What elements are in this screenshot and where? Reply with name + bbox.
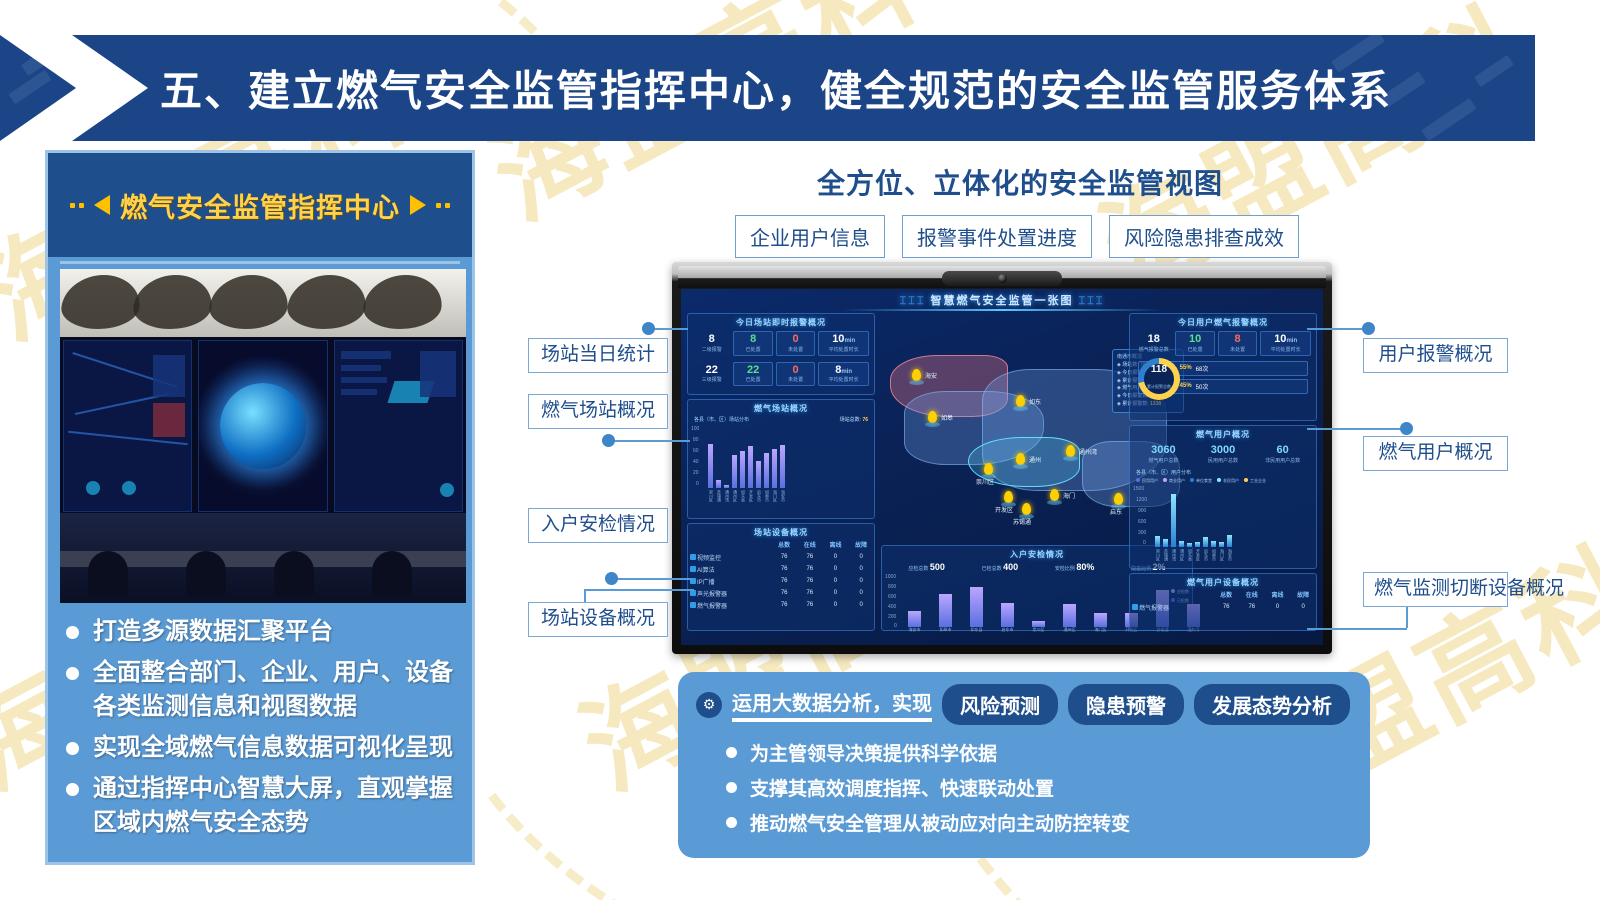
tag-risk-inspection[interactable]: 风险隐患排查成效: [1109, 215, 1299, 258]
callout-user-alarm[interactable]: 用户报警概况: [1363, 338, 1508, 373]
callout-node: [1400, 422, 1413, 435]
kpi-alarm-avg: 8min 平均处置时长: [818, 362, 869, 387]
callout-node: [605, 572, 618, 585]
kpi-inspected: 已检总数 400: [982, 562, 1018, 572]
list-item-text: 为主管领导决策提供科学依据: [750, 739, 997, 766]
panel-title: 场站设备概况: [688, 524, 874, 538]
legend-item: 商业用户: [1163, 478, 1185, 484]
left-card-bullet-list: 打造多源数据汇聚平台 全面整合部门、企业、用户、设备各类监测信息和视图数据 实现…: [66, 615, 458, 847]
x-tick: 如东县: [970, 628, 983, 632]
callout-station-daily-stats[interactable]: 场站当日统计: [528, 338, 668, 373]
station-device-table: 总数 在线 离线 故障 视频监控 76 76 0 0 AI算法 76: [688, 538, 874, 611]
callout-user-overview[interactable]: 燃气用户概况: [1363, 436, 1508, 471]
dashboard-screen: ⌶⌶⌶ 智慧燃气安全监管一张图 ⌶⌶⌶ 今日场站即时报警概况 8 二级报警 8 …: [681, 289, 1323, 645]
callout-line: [1307, 628, 1407, 630]
table-row: 燃气报警器 76 76 0 0: [688, 599, 874, 611]
ceiling-panel: [60, 269, 466, 337]
table-row: 燃气报警器 76 76 0 0: [1130, 601, 1316, 613]
panel-title: 今日场站即时报警概况: [688, 314, 874, 328]
x-tick: 通州湾: [1171, 549, 1176, 561]
x-tick: 海门区: [772, 490, 777, 502]
user-device-table: 总数 在线 离线 故障 燃气报警器 76 76 0 0: [1130, 588, 1316, 613]
triangle-right-icon: [410, 195, 426, 215]
callout-line: [1307, 428, 1407, 430]
kpi-alarm-avg: 10min 平均处置时长: [818, 331, 869, 356]
legend-item: 非民用户: [1217, 478, 1239, 484]
x-tick: 通州区: [1063, 628, 1076, 632]
kpi-residential-users: 3000 民用用户总数: [1195, 443, 1252, 466]
list-item: 实现全域燃气信息数据可视化呈现: [66, 731, 458, 765]
tag-alarm-progress[interactable]: 报警事件处置进度: [902, 215, 1092, 258]
x-tick: 海安市: [780, 490, 785, 502]
kpi-gas-users: 3060 燃气用户总数: [1135, 443, 1192, 466]
table-header-row: 总数 在线 离线 故障: [688, 538, 874, 551]
kpi-alarm-done: 22 已处置: [733, 362, 772, 387]
x-tick: 如皋市: [939, 628, 952, 632]
x-tick: 如东县: [1187, 549, 1192, 561]
kpi-user-alarm-total: 18 燃气报警总数: [1135, 332, 1172, 355]
control-room-photo: [60, 269, 466, 603]
x-tick: 通州区: [1179, 549, 1184, 561]
dashboard-title-text: 智慧燃气安全监管一张图: [931, 295, 1074, 307]
panel-station-device: 场站设备概况 总数 在线 离线 故障 视频监控 76 76 0 0: [687, 523, 875, 631]
bottom-header: ⚙ 运用大数据分析，实现 风险预测 隐患预警 发展态势分析: [696, 684, 1352, 725]
dashboard-title: ⌶⌶⌶ 智慧燃气安全监管一张图 ⌶⌶⌶: [681, 292, 1323, 308]
table-row: 22 三级报警 22 已处置 0 未处置 8min 平均处置时长: [688, 359, 874, 390]
kpi-alarm-total: 8 二级报警: [693, 332, 730, 355]
legend-item: 民用用户: [1136, 478, 1158, 484]
callout-node: [1362, 322, 1375, 335]
bullet-icon: [726, 747, 737, 758]
left-card-title: 燃气安全监管指挥中心: [120, 186, 400, 225]
list-item-text: 打造多源数据汇聚平台: [93, 615, 333, 649]
callout-home-inspection[interactable]: 入户安检情况: [528, 508, 668, 543]
bottom-bullet-list: 为主管领导决策提供科学依据 支撑其高效调度指挥、快速联动处置 推动燃气安全管理从…: [696, 739, 1352, 836]
station-total: 场站总数: 76: [840, 416, 868, 423]
list-item: 为主管领导决策提供科学依据: [726, 739, 1352, 766]
bullet-icon: [726, 817, 737, 828]
decor-dots-right: [436, 203, 450, 208]
x-tick: 开发区: [748, 490, 753, 502]
map-pin[interactable]: 开发区: [1004, 491, 1013, 503]
x-tick: 海门区: [1219, 549, 1224, 561]
panel-station-alarm: 今日场站即时报警概况 8 二级报警 8 已处置 0 未处置: [687, 313, 875, 395]
kpi-alarm-undone: 0 未处置: [776, 362, 815, 387]
tag-row: 企业用户信息 报警事件处置进度 风险隐患排查成效: [735, 215, 1299, 258]
bullet-icon: [66, 783, 79, 796]
map-pin[interactable]: 启东: [1114, 493, 1123, 505]
table-row: IP广播 76 76 0 0: [688, 575, 874, 587]
map-pin[interactable]: 如皋: [928, 411, 937, 423]
bottom-analysis-panel: ⚙ 运用大数据分析，实现 风险预测 隐患预警 发展态势分析 为主管领导决策提供科…: [678, 672, 1370, 858]
list-item: 通过指挥中心智慧大屏，直观掌握区域内燃气安全态势: [66, 772, 458, 840]
map-pin[interactable]: 海门: [1050, 489, 1059, 501]
x-tick: 启东市: [756, 490, 761, 502]
map-pin[interactable]: 海安: [912, 369, 921, 381]
kpi-alarm-done: 8 已处置: [733, 331, 772, 356]
list-item: 打造多源数据汇聚平台: [66, 615, 458, 649]
panel-station-overview: 燃气场站概况 各县（市、区）场站分布 场站总数: 76 100 80 60 40…: [687, 399, 875, 519]
kpi-inspect-rate: 安检比例 80%: [1055, 562, 1094, 572]
list-item: 全面整合部门、企业、用户、设备各类监测信息和视图数据: [66, 656, 458, 724]
callout-cutoff-device[interactable]: 燃气监测切断设备概况: [1363, 572, 1508, 607]
list-item: 支撑其高效调度指挥、快速联动处置: [726, 774, 1352, 801]
chip-icon: ⚙: [696, 692, 722, 718]
callout-line: [652, 328, 688, 330]
panel-title: 燃气场站概况: [688, 400, 874, 414]
callout-station-overview[interactable]: 燃气场站概况: [528, 394, 668, 429]
panel-title: 燃气用户设备概况: [1130, 574, 1316, 588]
kpi-user-alarm-avg: 10min 平均处置时长: [1260, 331, 1311, 356]
divider: [60, 261, 460, 264]
pill-trend-analysis[interactable]: 发展态势分析: [1194, 684, 1350, 725]
left-info-card: 燃气安全监管指挥中心: [45, 150, 475, 865]
callout-line: [584, 589, 694, 591]
map-pin[interactable]: 通州湾: [1066, 445, 1075, 457]
x-tick: 通州区: [732, 490, 737, 502]
decor-dots-left: [70, 203, 84, 208]
x-tick: 如皋市: [1211, 549, 1216, 561]
left-card-header: 燃气安全监管指挥中心: [48, 153, 472, 257]
bottom-lead-text: 运用大数据分析，实现: [732, 687, 932, 722]
x-tick: 如东县: [740, 490, 745, 502]
panel-title: 今日用户燃气报警概况: [1130, 314, 1316, 328]
monitor-bezel-top: [678, 266, 1326, 288]
map-pin[interactable]: 崇川区: [984, 463, 993, 475]
legend-item: 工业企业: [1244, 478, 1266, 484]
kpi-nonresidential-users: 60 非民用用户总数: [1254, 443, 1311, 466]
list-item-text: 推动燃气安全管理从被动应对向主动防控转变: [750, 809, 1130, 836]
x-tick: 崇川区: [1155, 549, 1160, 561]
x-tick: 苏锡通: [1163, 549, 1168, 561]
chart-subtitle: 各县（市、区）场站分布: [694, 416, 749, 423]
callout-line: [613, 578, 691, 580]
list-item-text: 支撑其高效调度指挥、快速联动处置: [750, 774, 1054, 801]
bullet-icon: [726, 782, 737, 793]
pill-hazard-warning[interactable]: 隐患预警: [1068, 684, 1184, 725]
alarm-donut-chart: 118 累计报警总数: [1138, 358, 1180, 400]
kpi-alarm-undone: 0 未处置: [776, 331, 815, 356]
operators-area: [60, 513, 466, 603]
table-row: 8 二级报警 8 已处置 0 未处置 10min 平均处置时长: [688, 328, 874, 359]
bullet-icon: [66, 667, 79, 680]
video-wall-screen-center: [198, 340, 327, 512]
table-row: 视频监控 76 76 0 0: [688, 551, 874, 563]
list-item-text: 通过指挥中心智慧大屏，直观掌握区域内燃气安全态势: [93, 772, 458, 840]
callout-node: [602, 434, 615, 447]
webcam-icon: [942, 271, 1062, 286]
table-row: 18 燃气报警总数 10 已处置 8 未处置 10min 平均处置时长: [1130, 328, 1316, 359]
video-wall: [60, 337, 466, 515]
x-tick: 启东市: [1001, 628, 1014, 632]
monitor-frame: ⌶⌶⌶ 智慧燃气安全监管一张图 ⌶⌶⌶ 今日场站即时报警概况 8 二级报警 8 …: [672, 262, 1332, 654]
map-pin[interactable]: 苏锡通: [1022, 503, 1031, 515]
bullet-icon: [66, 626, 79, 639]
video-wall-screen-left: [63, 340, 192, 512]
video-wall-screen-right: [334, 340, 463, 512]
callout-line: [610, 440, 690, 442]
callout-line: [1307, 328, 1369, 330]
chart-subtitle: 各县（市、区）用户分布: [1136, 469, 1310, 476]
x-tick: 海门区: [1094, 628, 1107, 632]
x-tick: 崇川区: [1032, 628, 1045, 632]
x-tick: 开发区: [1195, 549, 1200, 561]
list-item-text: 实现全域燃气信息数据可视化呈现: [93, 731, 453, 765]
pill-risk-prediction[interactable]: 风险预测: [942, 684, 1058, 725]
x-tick: 苏锡通: [716, 490, 721, 502]
x-tick: 如皋市: [764, 490, 769, 502]
table-row: 3060 燃气用户总数 3000 民用用户总数 60 非民用用户总数: [1130, 440, 1316, 469]
list-item: 推动燃气安全管理从被动应对向主动防控转变: [726, 809, 1352, 836]
panel-user-overview: 燃气用户概况 3060 燃气用户总数 3000 民用用户总数 60 非民用用户总…: [1129, 425, 1317, 569]
page-title: 五、建立燃气安全监管指挥中心，健全规范的安全监管服务体系: [160, 58, 1392, 119]
x-tick: 海安市: [1227, 549, 1232, 561]
x-tick: 通州湾: [724, 490, 729, 502]
page-banner: 五、建立燃气安全监管指挥中心，健全规范的安全监管服务体系: [0, 35, 1535, 141]
bullet-icon: [66, 742, 79, 755]
kpi-user-alarm-undone: 8 未处置: [1218, 331, 1257, 356]
map-pin[interactable]: 通州: [1016, 453, 1025, 465]
panel-title: 燃气用户概况: [1130, 426, 1316, 440]
legend-item: 单位食堂: [1190, 478, 1212, 484]
title-glow-line: [842, 309, 1163, 311]
table-row: 声光报警器 76 76 0 0: [688, 587, 874, 599]
table-header-row: 总数 在线 离线 故障: [1130, 588, 1316, 601]
triangle-left-icon: [94, 195, 110, 215]
panel-user-device: 燃气用户设备概况 总数 在线 离线 故障 燃气报警器 76 76 0 0: [1129, 573, 1317, 631]
map-pin[interactable]: 如东: [1016, 395, 1025, 407]
x-tick: 海安市: [908, 628, 921, 632]
x-tick: 崇川区: [708, 490, 713, 502]
kpi-alarm-total: 22 三级报警: [693, 363, 730, 386]
x-tick: 启东市: [1203, 549, 1208, 561]
kpi-should-inspect: 应检总数 500: [908, 562, 944, 572]
tag-enterprise-user-info[interactable]: 企业用户信息: [735, 215, 885, 258]
table-row: AI算法 76 76 0 0: [688, 563, 874, 575]
kpi-user-alarm-done: 10 已处置: [1175, 331, 1214, 356]
panel-user-alarm: 今日用户燃气报警概况 18 燃气报警总数 10 已处置 8 未处置: [1129, 313, 1317, 421]
section-title: 全方位、立体化的安全监管视图: [790, 162, 1250, 202]
list-item-text: 全面整合部门、企业、用户、设备各类监测信息和视图数据: [93, 656, 458, 724]
callout-station-device[interactable]: 场站设备概况: [528, 602, 668, 637]
callout-node: [642, 322, 655, 335]
